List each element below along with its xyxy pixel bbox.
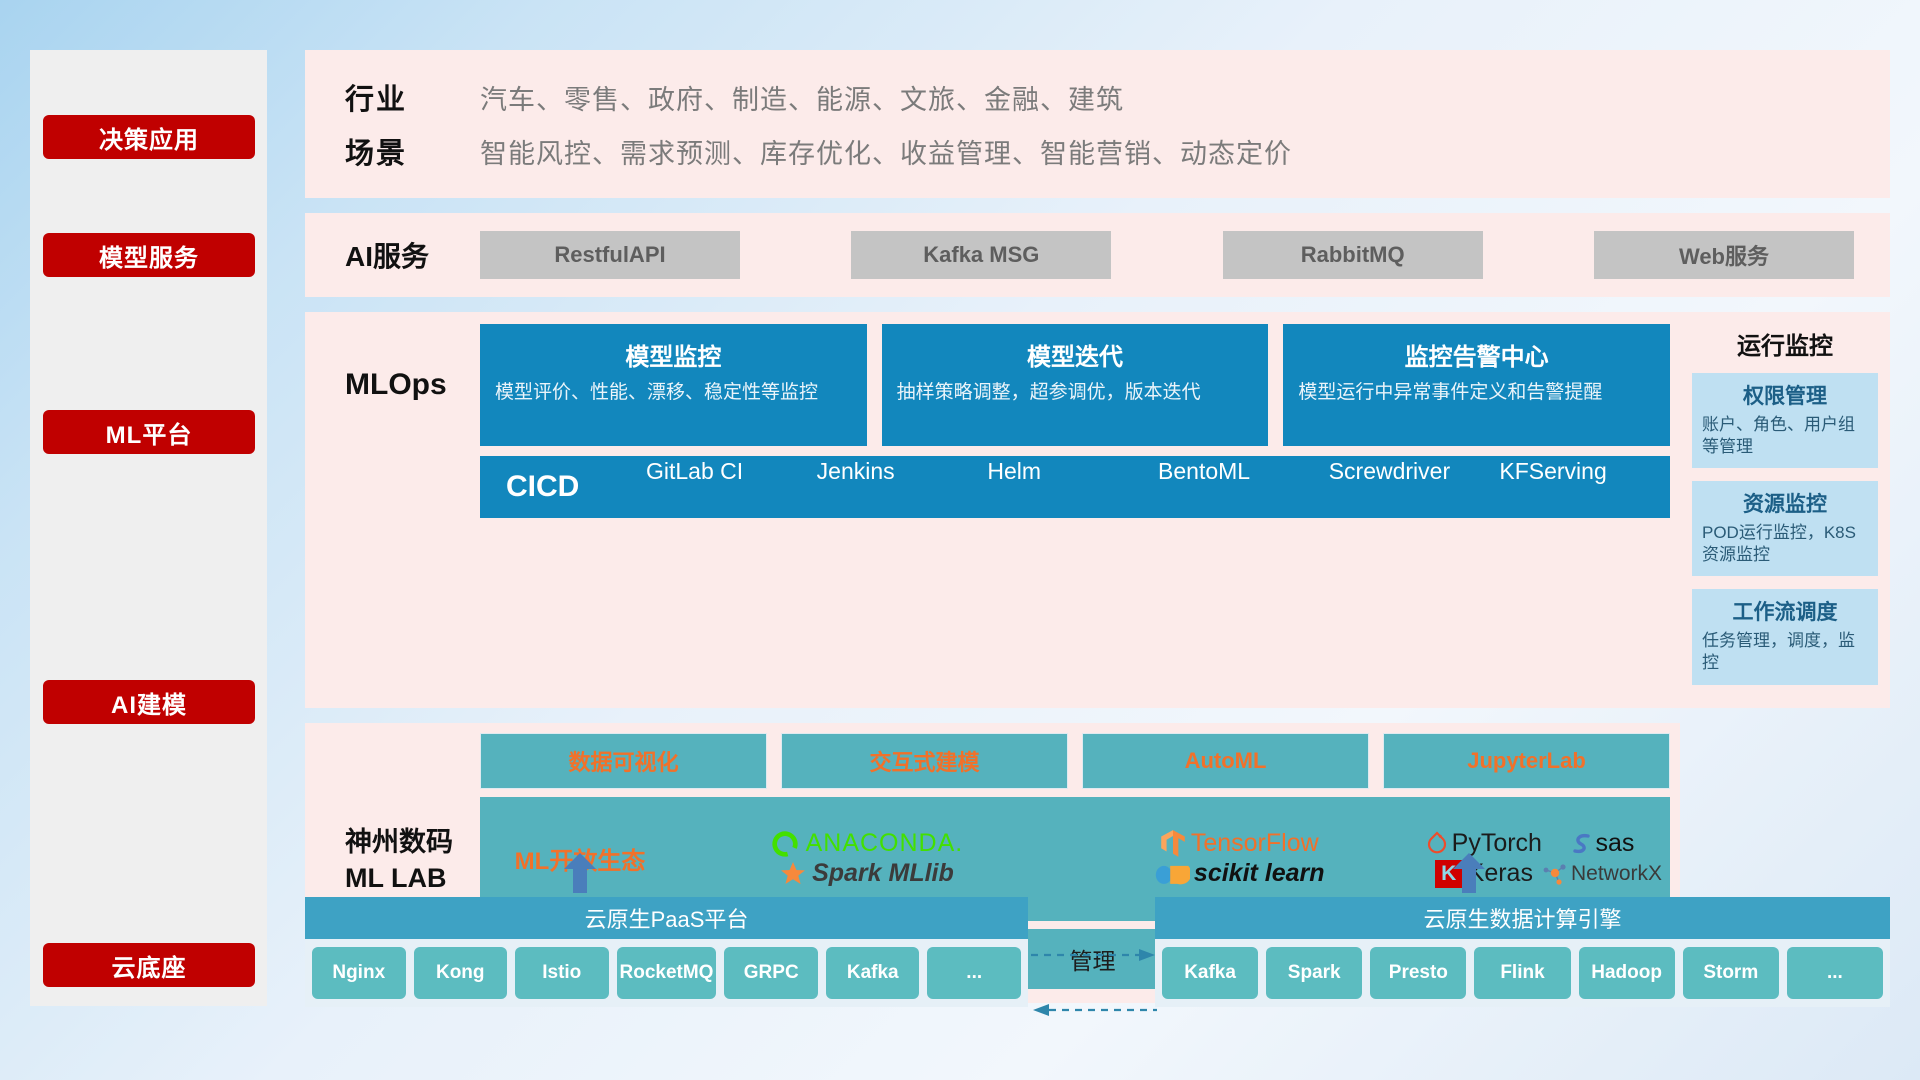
tensorflow-mark-icon: [1160, 829, 1186, 859]
cicd-item-bentoml[interactable]: BentoML: [1158, 456, 1329, 518]
engine-tag-hadoop[interactable]: Hadoop: [1579, 947, 1675, 999]
rail-btn-ai-modeling[interactable]: AI建模: [43, 680, 255, 724]
sas-mark-icon: [1570, 831, 1594, 857]
card-desc: 任务管理，调度，监控: [1702, 630, 1868, 674]
runtime-monitor-title: 运行监控: [1692, 326, 1878, 361]
engine-tag-more[interactable]: ...: [1787, 947, 1883, 999]
lab-tool-automl[interactable]: AutoML: [1082, 733, 1369, 789]
tensorflow-logo: TensorFlow: [1160, 829, 1319, 859]
card-desc: POD运行监控，K8S资源监控: [1702, 522, 1868, 566]
ai-chip-restfulapi[interactable]: RestfulAPI: [480, 231, 740, 279]
runtime-monitor-column: 运行监控 权限管理 账户、角色、用户组等管理 资源监控 POD运行监控，K8S资…: [1680, 312, 1890, 708]
anaconda-logo-text: ANACONDA.: [806, 829, 964, 858]
engine-tag-presto[interactable]: Presto: [1370, 947, 1466, 999]
mlops-card-alert-center[interactable]: 监控告警中心 模型运行中异常事件定义和告警提醒: [1283, 324, 1670, 446]
scenario-label: 场景: [345, 130, 480, 172]
card-title: 工作流调度: [1702, 596, 1868, 626]
rail-label: 决策应用: [99, 120, 199, 155]
cicd-item-kfserving[interactable]: KFServing: [1499, 456, 1670, 518]
tensorflow-logo-text: TensorFlow: [1191, 829, 1319, 858]
rail-label: AI建模: [111, 685, 187, 720]
mlops-band: MLOps 模型监控 模型评价、性能、漂移、稳定性等监控 模型迭代 抽样策略调整…: [305, 312, 1680, 708]
mlops-row: MLOps 模型监控 模型评价、性能、漂移、稳定性等监控 模型迭代 抽样策略调整…: [305, 312, 1890, 708]
band-gap: [305, 297, 1890, 312]
rail-label: ML平台: [106, 415, 193, 450]
paas-tag-istio[interactable]: Istio: [515, 947, 609, 999]
rail-btn-decision-app[interactable]: 决策应用: [43, 115, 255, 159]
spark-mllib-logo-text: Spark MLlib: [812, 859, 954, 888]
industry-values: 汽车、零售、政府、制造、能源、文旅、金融、建筑: [480, 78, 1124, 117]
scenario-row: 场景 智能风控、需求预测、库存优化、收益管理、智能营销、动态定价: [345, 124, 1890, 178]
cloud-native-paas-block: 云原生PaaS平台 Nginx Kong Istio RocketMQ GRPC…: [305, 897, 1028, 1007]
left-rail: 决策应用 模型服务 ML平台 AI建模 云底座: [30, 50, 267, 1006]
anaconda-logo: ANACONDA.: [770, 829, 964, 859]
ai-service-band: AI服务 RestfulAPI Kafka MSG RabbitMQ Web服务: [305, 213, 1890, 297]
networkx-logo: NetworkX: [1542, 861, 1662, 887]
cicd-item-jenkins[interactable]: Jenkins: [817, 456, 988, 518]
mlops-label: MLOps: [345, 324, 480, 446]
mlops-card-model-iteration[interactable]: 模型迭代 抽样策略调整，超参调优，版本迭代: [882, 324, 1269, 446]
sas-logo-text: sas: [1596, 829, 1635, 858]
rail-label: 云底座: [112, 948, 187, 983]
cloud-native-data-engine-block: 云原生数据计算引擎 Kafka Spark Presto Flink Hadoo…: [1155, 897, 1890, 1007]
card-title: 资源监控: [1702, 488, 1868, 518]
scikit-learn-logo: scikit learn: [1154, 859, 1325, 888]
anaconda-mark-icon: [770, 829, 800, 859]
card-title: 监控告警中心: [1298, 337, 1655, 372]
card-desc: 抽样策略调整，超参调优，版本迭代: [897, 380, 1254, 405]
card-desc: 账户、角色、用户组等管理: [1702, 414, 1868, 458]
card-title: 模型迭代: [897, 337, 1254, 372]
ai-service-chip-list: RestfulAPI Kafka MSG RabbitMQ Web服务: [480, 231, 1890, 279]
card-desc: 模型运行中异常事件定义和告警提醒: [1298, 380, 1655, 405]
mlops-card-list: 模型监控 模型评价、性能、漂移、稳定性等监控 模型迭代 抽样策略调整，超参调优，…: [480, 324, 1680, 446]
rail-btn-model-service[interactable]: 模型服务: [43, 233, 255, 277]
paas-tag-grpc[interactable]: GRPC: [724, 947, 818, 999]
lab-tool-jupyterlab[interactable]: JupyterLab: [1383, 733, 1670, 789]
engine-tag-flink[interactable]: Flink: [1474, 947, 1570, 999]
ai-chip-rabbitmq[interactable]: RabbitMQ: [1223, 231, 1483, 279]
lab-tool-data-visualization[interactable]: 数据可视化: [480, 733, 767, 789]
arrow-up-paas-icon: [563, 853, 597, 893]
band-gap: [305, 198, 1890, 213]
paas-tag-rocketmq[interactable]: RocketMQ: [617, 947, 717, 999]
cloud-base-section: 云原生PaaS平台 Nginx Kong Istio RocketMQ GRPC…: [305, 885, 1890, 1025]
cicd-item-helm[interactable]: Helm: [987, 456, 1158, 518]
cloud-native-paas-title: 云原生PaaS平台: [305, 897, 1028, 939]
engine-tag-spark[interactable]: Spark: [1266, 947, 1362, 999]
lab-tool-interactive-modeling[interactable]: 交互式建模: [781, 733, 1068, 789]
pytorch-mark-icon: [1426, 831, 1448, 857]
paas-tag-kafka[interactable]: Kafka: [826, 947, 920, 999]
paas-tag-kong[interactable]: Kong: [414, 947, 508, 999]
engine-tag-kafka[interactable]: Kafka: [1162, 947, 1258, 999]
scenario-values: 智能风控、需求预测、库存优化、收益管理、智能营销、动态定价: [480, 132, 1292, 171]
band-gap: [305, 708, 1890, 723]
paas-tag-nginx[interactable]: Nginx: [312, 947, 406, 999]
spark-mllib-logo: Spark MLlib: [779, 859, 954, 888]
rail-btn-ml-platform[interactable]: ML平台: [43, 410, 255, 454]
industry-scenario-band: 行业 汽车、零售、政府、制造、能源、文旅、金融、建筑 场景 智能风控、需求预测、…: [305, 50, 1890, 198]
ai-service-label: AI服务: [345, 235, 480, 275]
connector-right-arrow: [1031, 948, 1157, 950]
cicd-item-gitlab-ci[interactable]: GitLab CI: [646, 456, 817, 518]
diagram-canvas: 决策应用 模型服务 ML平台 AI建模 云底座 行业 汽车、零售、政府、制造、能…: [0, 0, 1920, 1080]
cloud-native-data-engine-tags: Kafka Spark Presto Flink Hadoop Storm ..…: [1155, 939, 1890, 1007]
cicd-item-screwdriver[interactable]: Screwdriver: [1329, 456, 1500, 518]
ai-chip-web-service[interactable]: Web服务: [1594, 231, 1854, 279]
card-title: 权限管理: [1702, 380, 1868, 410]
paas-tag-more[interactable]: ...: [927, 947, 1021, 999]
cloud-native-data-engine-title: 云原生数据计算引擎: [1155, 897, 1890, 939]
networkx-logo-text: NetworkX: [1571, 862, 1662, 886]
industry-label: 行业: [345, 76, 480, 118]
rail-label: 模型服务: [99, 238, 199, 273]
sas-logo: sas: [1570, 829, 1635, 858]
card-title: 模型监控: [495, 337, 852, 372]
monitor-card-permission[interactable]: 权限管理 账户、角色、用户组等管理: [1692, 373, 1878, 468]
spark-star-icon: [779, 860, 807, 888]
rail-btn-cloud-base[interactable]: 云底座: [43, 943, 255, 987]
scikit-learn-mark-icon: [1154, 860, 1190, 888]
cicd-bar: CICD GitLab CI Jenkins Helm BentoML Scre…: [480, 456, 1670, 518]
main-column: 行业 汽车、零售、政府、制造、能源、文旅、金融、建筑 场景 智能风控、需求预测、…: [305, 50, 1890, 1003]
cicd-title: CICD: [506, 470, 646, 504]
monitor-card-resource[interactable]: 资源监控 POD运行监控，K8S资源监控: [1692, 481, 1878, 576]
ecosystem-logo-grid: ANACONDA. TensorFlow: [680, 829, 1670, 889]
arrow-up-data-engine-icon: [1452, 853, 1486, 893]
engine-tag-storm[interactable]: Storm: [1683, 947, 1779, 999]
mlops-inner: MLOps 模型监控 模型评价、性能、漂移、稳定性等监控 模型迭代 抽样策略调整…: [305, 324, 1680, 446]
scikit-learn-logo-text: scikit learn: [1194, 859, 1325, 888]
card-desc: 模型评价、性能、漂移、稳定性等监控: [495, 380, 852, 405]
networkx-mark-icon: [1542, 861, 1568, 887]
mlops-card-model-monitoring[interactable]: 模型监控 模型评价、性能、漂移、稳定性等监控: [480, 324, 867, 446]
ml-lab-tool-list: 数据可视化 交互式建模 AutoML JupyterLab: [480, 733, 1670, 789]
connector-left-arrow: [1031, 1003, 1157, 1005]
cicd-item-list: GitLab CI Jenkins Helm BentoML Screwdriv…: [646, 456, 1670, 518]
cloud-native-paas-tags: Nginx Kong Istio RocketMQ GRPC Kafka ...: [305, 939, 1028, 1007]
ai-chip-kafka-msg[interactable]: Kafka MSG: [851, 231, 1111, 279]
monitor-card-workflow[interactable]: 工作流调度 任务管理，调度，监控: [1692, 589, 1878, 684]
industry-row: 行业 汽车、零售、政府、制造、能源、文旅、金融、建筑: [345, 70, 1890, 124]
